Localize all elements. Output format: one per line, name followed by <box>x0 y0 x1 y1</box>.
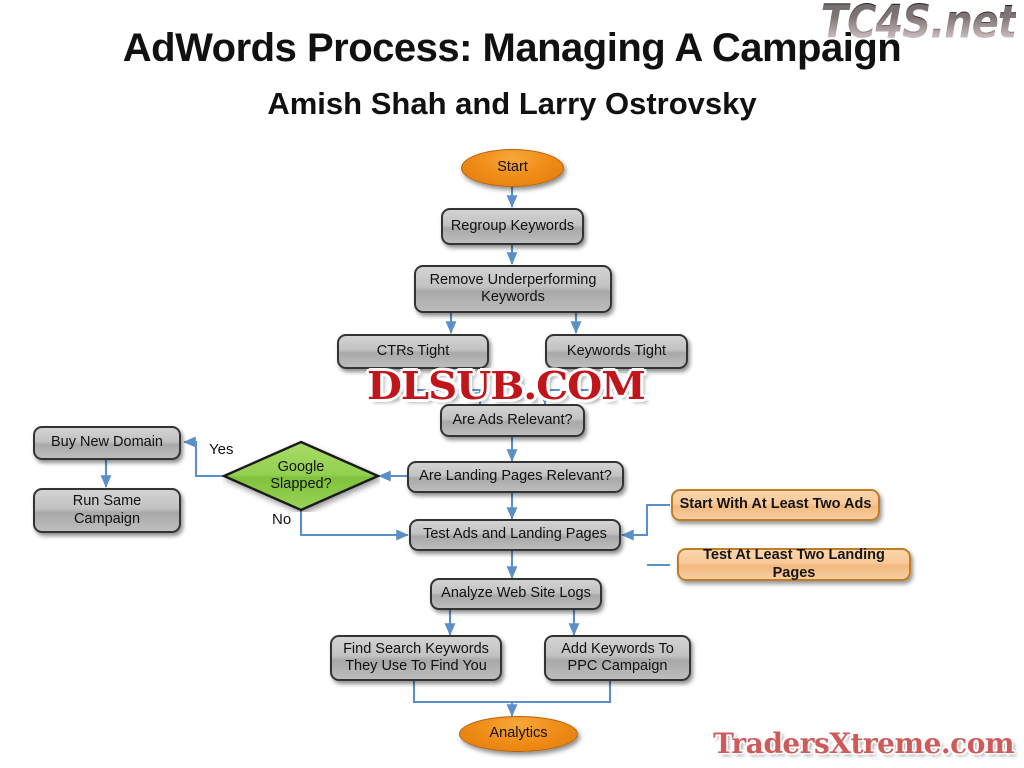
node-regroup-keywords-label: Regroup Keywords <box>451 218 574 235</box>
node-analytics-label: Analytics <box>489 725 547 742</box>
node-ctrs-tight-label: CTRs Tight <box>377 343 450 360</box>
node-run-same-campaign-label: Run Same Campaign <box>41 493 173 527</box>
watermark-tc4s: TC4S.net <box>821 0 1016 49</box>
node-test-ads-and-landing-pages-label: Test Ads and Landing Pages <box>423 526 607 543</box>
node-start-label: Start <box>497 159 528 176</box>
node-analyze-web-site-logs[interactable]: Analyze Web Site Logs <box>430 578 602 610</box>
edge-label-yes: Yes <box>209 441 233 458</box>
node-start-with-at-least-two-ads-label: Start With At Least Two Ads <box>680 496 872 513</box>
node-analytics[interactable]: Analytics <box>459 716 578 752</box>
node-test-ads-and-landing-pages[interactable]: Test Ads and Landing Pages <box>409 519 621 551</box>
node-find-search-keywords-label: Find Search Keywords They Use To Find Yo… <box>338 641 494 675</box>
node-test-at-least-two-landing-pages[interactable]: Test At Least Two Landing Pages <box>677 548 911 581</box>
node-are-landing-pages-relevant[interactable]: Are Landing Pages Relevant? <box>407 461 624 493</box>
node-test-at-least-two-landing-pages-label: Test At Least Two Landing Pages <box>685 547 903 581</box>
node-are-ads-relevant[interactable]: Are Ads Relevant? <box>440 404 585 437</box>
decision-diamond-shape <box>222 440 380 512</box>
node-remove-underperforming-keywords[interactable]: Remove Underperforming Keywords <box>414 265 612 313</box>
watermark-tradersxtreme: TradersXtreme.com <box>713 727 1014 760</box>
edge-label-no: No <box>272 511 291 528</box>
node-start-with-at-least-two-ads[interactable]: Start With At Least Two Ads <box>671 489 880 521</box>
node-keywords-tight-label: Keywords Tight <box>567 343 666 360</box>
node-remove-underperforming-keywords-label: Remove Underperforming Keywords <box>422 272 604 306</box>
node-start[interactable]: Start <box>461 149 564 187</box>
node-are-landing-pages-relevant-label: Are Landing Pages Relevant? <box>419 468 612 485</box>
node-buy-new-domain[interactable]: Buy New Domain <box>33 426 181 460</box>
node-are-ads-relevant-label: Are Ads Relevant? <box>452 412 572 429</box>
node-regroup-keywords[interactable]: Regroup Keywords <box>441 208 584 245</box>
node-run-same-campaign[interactable]: Run Same Campaign <box>33 488 181 533</box>
node-add-keywords-to-ppc-campaign[interactable]: Add Keywords To PPC Campaign <box>544 635 691 681</box>
node-add-keywords-to-ppc-campaign-label: Add Keywords To PPC Campaign <box>552 641 683 675</box>
node-buy-new-domain-label: Buy New Domain <box>51 434 163 451</box>
node-google-slapped[interactable]: Google Slapped? <box>222 440 380 512</box>
watermark-dlsub: DLSUB.COM <box>367 363 645 408</box>
flowchart-slide: AdWords Process: Managing A Campaign Ami… <box>0 0 1024 768</box>
node-analyze-web-site-logs-label: Analyze Web Site Logs <box>441 585 591 602</box>
node-find-search-keywords[interactable]: Find Search Keywords They Use To Find Yo… <box>330 635 502 681</box>
